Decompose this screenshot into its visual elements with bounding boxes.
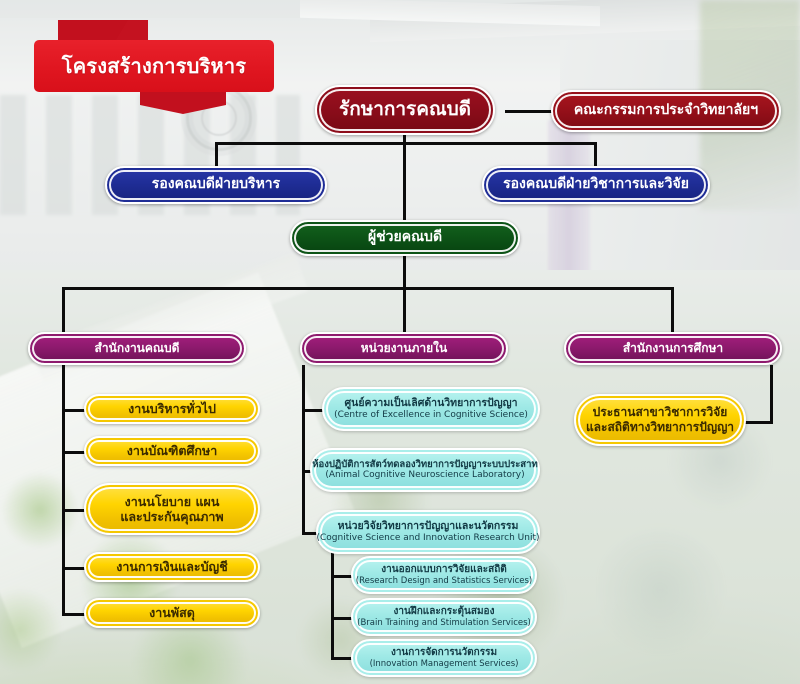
node-cognitive-science-innovation-research-unit-en: (Cognitive Science and Innovation Resear… [317, 533, 540, 544]
node-research-statistics-program-chair-line2: และสถิติทางวิทยาการปัญญา [586, 420, 734, 435]
node-vice-dean-administration-label: รองคณบดีฝ่ายบริหาร [152, 176, 280, 193]
node-brain-training-stimulation-en: (Brain Training and Stimulation Services… [357, 618, 531, 628]
node-finance-accounting[interactable]: งานการเงินและบัญชี [84, 552, 260, 582]
node-research-design-statistics-th: งานออกแบบการวิจัยและสถิติ [381, 564, 507, 576]
connector-stub-service-3 [331, 657, 353, 660]
node-centre-of-excellence-en: (Centre of Excellence in Cognitive Scien… [334, 410, 528, 421]
node-acting-dean[interactable]: รักษาการคณบดี [315, 85, 495, 135]
connector-stub-1 [62, 409, 86, 412]
connector-assistant-down [403, 256, 406, 287]
node-office-of-the-dean-label: สำนักงานคณบดี [95, 341, 180, 356]
node-assistant-dean[interactable]: ผู้ช่วยคณบดี [290, 220, 520, 256]
connector-stub-service-2 [331, 617, 353, 620]
node-general-administration[interactable]: งานบริหารทั่วไป [84, 394, 260, 424]
page-title: โครงสร้างการบริหาร [62, 50, 246, 82]
node-innovation-management-en: (Innovation Management Services) [370, 659, 519, 669]
connector-stub-unit-1 [302, 409, 324, 412]
connector-stub-service-1 [331, 575, 353, 578]
node-innovation-management[interactable]: งานการจัดการนวัตกรรม (Innovation Managem… [351, 639, 537, 677]
node-research-statistics-program-chair-line1: ประธานสาขาวิชาการวิจัย [593, 405, 728, 420]
node-research-design-statistics-en: (Research Design and Statistics Services… [356, 576, 532, 586]
node-vice-dean-administration[interactable]: รองคณบดีฝ่ายบริหาร [105, 166, 327, 204]
node-college-committee-label: คณะกรรมการประจำวิทยาลัยฯ [574, 102, 758, 119]
node-office-of-education-label: สำนักงานการศึกษา [623, 341, 723, 356]
node-research-statistics-program-chair[interactable]: ประธานสาขาวิชาการวิจัย และสถิติทางวิทยาก… [574, 394, 746, 446]
node-supplies-label: งานพัสดุ [149, 605, 195, 620]
connector-services-spine [331, 549, 334, 660]
node-vice-dean-academic-research-label: รองคณบดีฝ่ายวิชาการและวิจัย [503, 176, 689, 193]
title-banner-body: โครงสร้างการบริหาร [34, 40, 274, 92]
node-research-design-statistics[interactable]: งานออกแบบการวิจัยและสถิติ (Research Desi… [351, 556, 537, 594]
connector-office-dean-spine [62, 365, 65, 616]
connector-office-education-spine [770, 365, 773, 424]
connector-internal-units-spine [302, 365, 305, 535]
node-cognitive-science-innovation-research-unit-th: หน่วยวิจัยวิทยาการปัญญาและนวัตกรรม [338, 520, 519, 533]
node-policy-planning-qa-label-line2: และประกันคุณภาพ [120, 509, 223, 524]
node-internal-units[interactable]: หน่วยงานภายใน [300, 332, 508, 365]
connector-division-bus [62, 287, 674, 290]
connector-stub-education-1 [745, 421, 773, 424]
node-policy-planning-qa[interactable]: งานนโยบาย แผน และประกันคุณภาพ [84, 483, 260, 535]
node-general-administration-label: งานบริหารทั่วไป [128, 401, 216, 416]
connector-office-dean-drop [62, 287, 65, 332]
node-supplies[interactable]: งานพัสดุ [84, 598, 260, 628]
node-centre-of-excellence-th: ศูนย์ความเป็นเลิศด้านวิทยาการปัญญา [345, 397, 518, 410]
node-animal-cognitive-neuroscience-lab-en: (Animal Cognitive Neuroscience Laborator… [325, 470, 524, 481]
connector-internal-units-drop [403, 287, 406, 332]
connector-stub-4 [62, 567, 86, 570]
connector-vice-academic-drop [594, 142, 597, 166]
org-chart-canvas: โครงสร้างการบริหาร รักษาการคณบดี คณะกรรม… [0, 0, 800, 684]
connector-stub-2 [62, 451, 86, 454]
node-innovation-management-th: งานการจัดการนวัตกรรม [391, 647, 497, 659]
connector-vice-admin-drop [215, 142, 218, 166]
connector-stub-5 [62, 613, 86, 616]
connector-vicedean-bus [215, 142, 597, 145]
node-cognitive-science-innovation-research-unit[interactable]: หน่วยวิจัยวิทยาการปัญญาและนวัตกรรม (Cogn… [316, 510, 540, 554]
connector-office-education-drop [671, 287, 674, 332]
node-animal-cognitive-neuroscience-lab[interactable]: ห้องปฏิบัติการสัตว์ทดลองวิทยาการปัญญาระบ… [310, 448, 540, 492]
node-office-of-the-dean[interactable]: สำนักงานคณบดี [28, 332, 246, 365]
node-finance-accounting-label: งานการเงินและบัญชี [116, 559, 227, 574]
connector-stub-3 [62, 509, 86, 512]
node-policy-planning-qa-label-line1: งานนโยบาย แผน [125, 494, 220, 509]
node-brain-training-stimulation-th: งานฝึกและกระตุ้นสมอง [394, 606, 495, 618]
node-assistant-dean-label: ผู้ช่วยคณบดี [368, 229, 442, 246]
node-vice-dean-academic-research[interactable]: รองคณบดีฝ่ายวิชาการและวิจัย [482, 166, 710, 204]
title-banner: โครงสร้างการบริหาร [12, 20, 274, 100]
node-acting-dean-label: รักษาการคณบดี [339, 98, 471, 121]
node-graduate-studies[interactable]: งานบัณฑิตศึกษา [84, 436, 260, 466]
connector-dean-committee [505, 110, 553, 113]
node-college-committee[interactable]: คณะกรรมการประจำวิทยาลัยฯ [551, 90, 781, 132]
node-office-of-education[interactable]: สำนักงานการศึกษา [564, 332, 782, 365]
connector-dean-assistant [403, 142, 406, 220]
node-brain-training-stimulation[interactable]: งานฝึกและกระตุ้นสมอง (Brain Training and… [351, 598, 537, 636]
node-animal-cognitive-neuroscience-lab-th: ห้องปฏิบัติการสัตว์ทดลองวิทยาการปัญญาระบ… [312, 459, 537, 471]
node-graduate-studies-label: งานบัณฑิตศึกษา [127, 443, 217, 458]
node-centre-of-excellence[interactable]: ศูนย์ความเป็นเลิศด้านวิทยาการปัญญา (Cent… [322, 387, 540, 431]
node-internal-units-label: หน่วยงานภายใน [361, 341, 447, 356]
